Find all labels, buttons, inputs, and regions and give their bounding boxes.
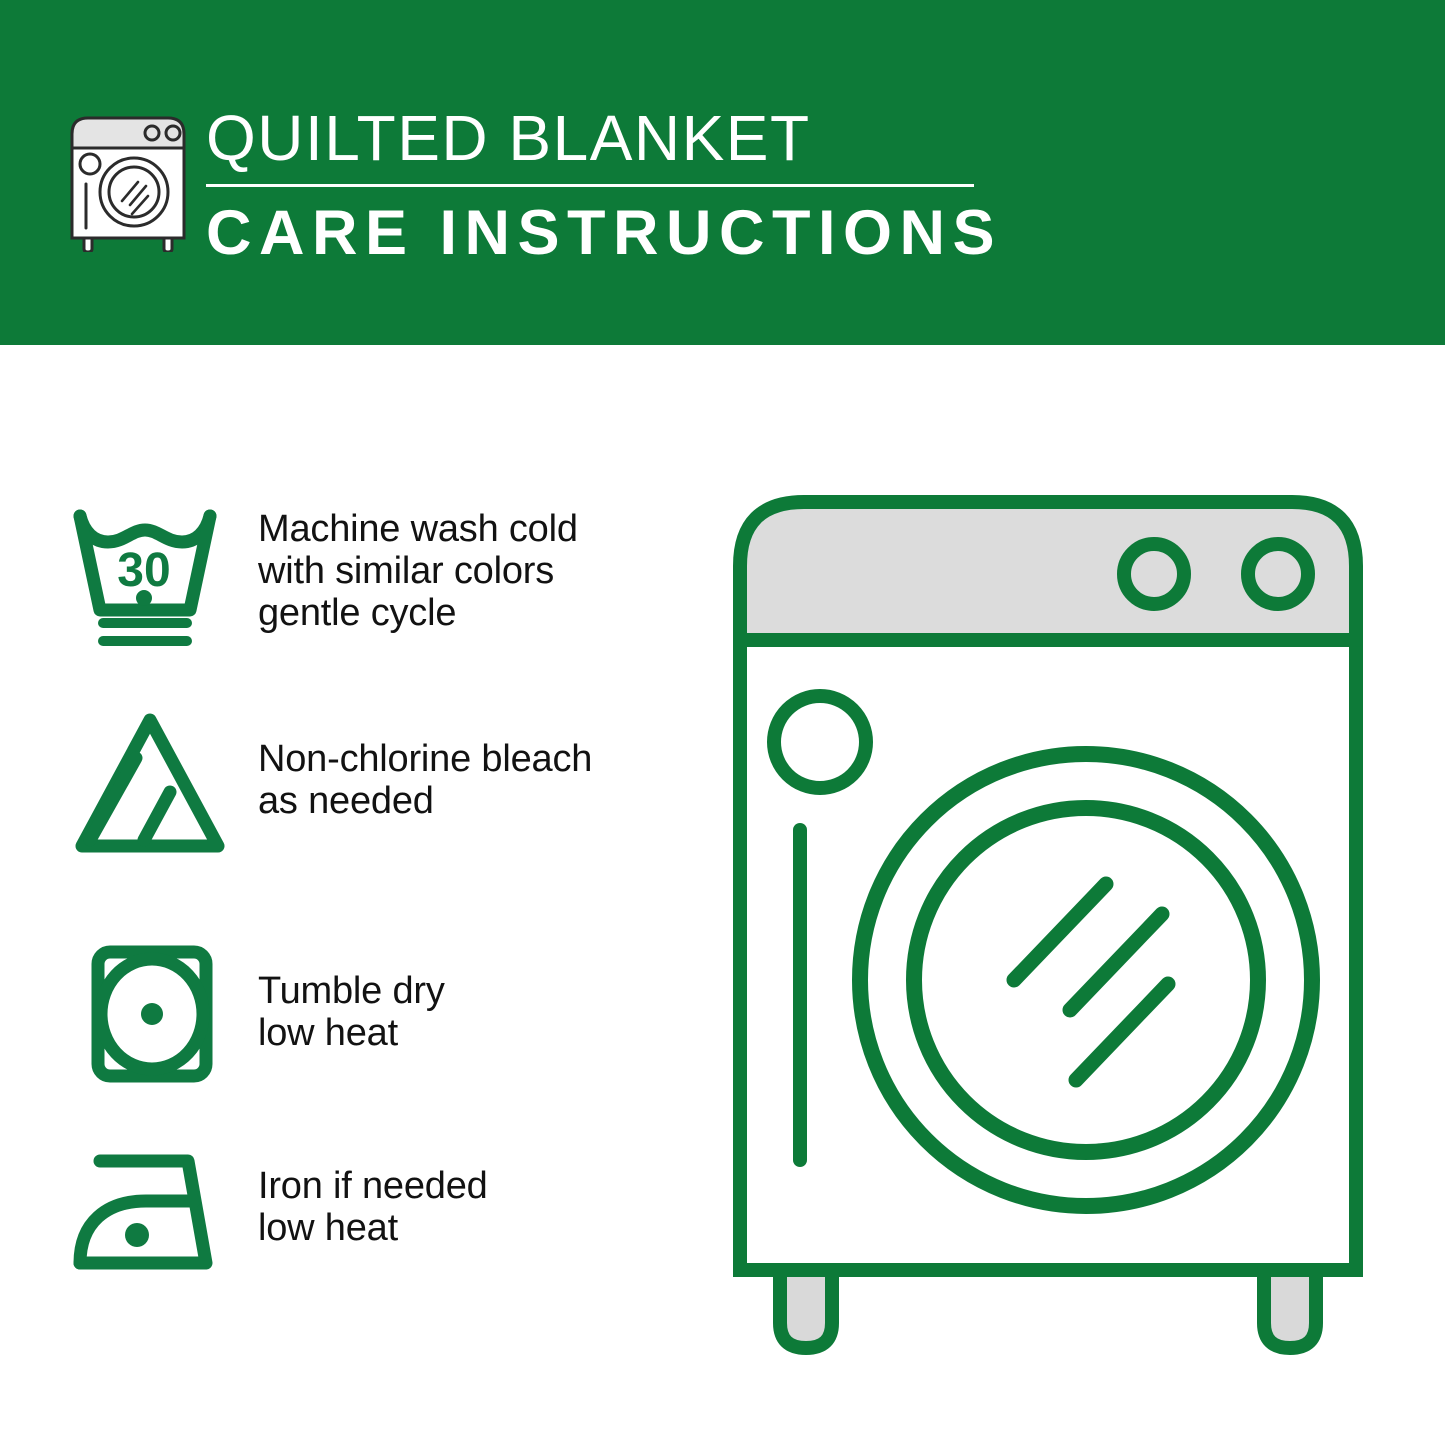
drum-inner <box>914 808 1258 1152</box>
care-text-line: low heat <box>258 1207 488 1249</box>
page-subtitle: CARE INSTRUCTIONS <box>206 197 996 269</box>
washing-machine-illustration <box>718 480 1378 1370</box>
control-knob-left <box>1124 544 1184 604</box>
care-text-line: gentle cycle <box>258 592 578 634</box>
iron-heat-dot-icon <box>125 1223 149 1247</box>
care-text-line: Machine wash cold <box>258 508 578 550</box>
leg-left <box>780 1270 832 1348</box>
care-instruction-row-bleach: Non-chlorine bleach as needed <box>70 706 690 863</box>
care-instruction-text-wash: Machine wash cold with similar colors ge… <box>258 498 578 634</box>
leg-right <box>1264 1270 1316 1348</box>
page-title: QUILTED BLANKET <box>206 100 996 176</box>
care-text-line: Non-chlorine bleach <box>258 738 592 780</box>
care-instruction-row-iron: Iron if needed low heat <box>70 1145 690 1280</box>
dry-heat-dot-icon <box>141 1003 163 1025</box>
header-title-block: QUILTED BLANKET CARE INSTRUCTIONS <box>206 100 996 269</box>
wash-temperature-label: 30 <box>117 544 170 597</box>
care-instruction-text-iron: Iron if needed low heat <box>258 1145 488 1249</box>
iron-icon <box>70 1145 230 1280</box>
care-instruction-row-dry: Tumble dry low heat <box>70 938 690 1095</box>
wash-tub-30-icon: 30 <box>70 498 230 655</box>
care-text-line: low heat <box>258 1012 445 1054</box>
care-text-line: Iron if needed <box>258 1165 488 1207</box>
control-knob-right <box>1248 544 1308 604</box>
care-instruction-text-bleach: Non-chlorine bleach as needed <box>258 706 592 822</box>
care-instructions-card: QUILTED BLANKET CARE INSTRUCTIONS 30 Mac… <box>0 0 1445 1445</box>
washing-machine-icon <box>62 104 194 252</box>
title-divider <box>206 184 974 187</box>
indicator-light <box>774 696 866 788</box>
care-instruction-text-dry: Tumble dry low heat <box>258 938 445 1054</box>
care-instruction-row-wash: 30 Machine wash cold with similar colors… <box>70 498 690 655</box>
wash-dot-icon <box>136 590 152 606</box>
header-band: QUILTED BLANKET CARE INSTRUCTIONS <box>0 0 1445 345</box>
bleach-triangle-icon <box>70 706 230 863</box>
tumble-dry-icon <box>70 938 230 1095</box>
care-text-line: with similar colors <box>258 550 578 592</box>
care-text-line: Tumble dry <box>258 970 445 1012</box>
care-text-line: as needed <box>258 780 592 822</box>
